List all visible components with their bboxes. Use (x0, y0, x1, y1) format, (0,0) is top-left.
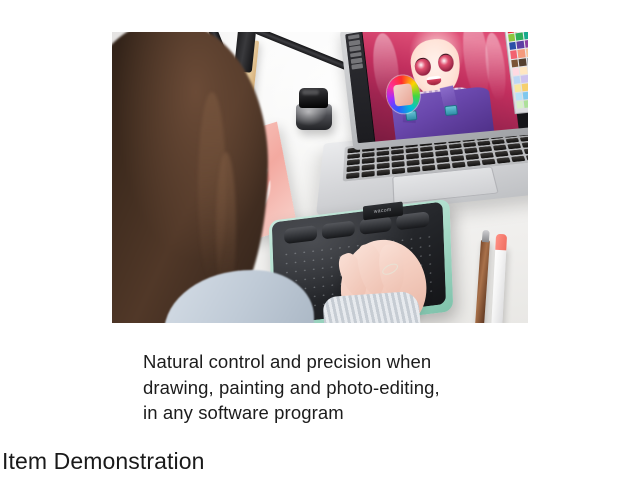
color-swatch[interactable] (511, 59, 519, 67)
express-key[interactable] (322, 221, 355, 240)
tool-icon[interactable] (350, 46, 361, 52)
color-swatch[interactable] (518, 49, 526, 57)
photo-caption: Natural control and precision when drawi… (143, 349, 543, 426)
color-swatch[interactable] (508, 34, 516, 42)
color-swatch[interactable] (521, 75, 528, 83)
overall-buckle-right (444, 105, 457, 116)
color-swatch[interactable] (509, 42, 517, 50)
color-swatch[interactable] (515, 92, 523, 100)
color-swatch[interactable] (526, 48, 528, 56)
color-swatch[interactable] (519, 58, 527, 66)
color-swatch[interactable] (524, 100, 528, 108)
color-swatch[interactable] (525, 40, 528, 48)
sweater-sleeve (322, 291, 421, 323)
express-key[interactable] (284, 225, 317, 244)
tool-icon[interactable] (351, 58, 362, 64)
photo-scene: wacom (112, 32, 528, 323)
color-swatch[interactable] (513, 76, 521, 84)
laptop-screen (345, 32, 528, 143)
color-swatch[interactable] (516, 101, 524, 109)
tool-icon[interactable] (350, 52, 361, 58)
color-swatch[interactable] (514, 84, 522, 92)
color-swatch[interactable] (517, 41, 525, 49)
section-title: Item Demonstration (2, 447, 205, 475)
product-photo: wacom (112, 32, 528, 323)
color-swatch[interactable] (523, 32, 528, 40)
color-swatch[interactable] (510, 50, 518, 58)
tool-icon[interactable] (349, 40, 360, 46)
tool-icon[interactable] (348, 34, 359, 40)
color-swatch[interactable] (520, 66, 528, 74)
color-swatch[interactable] (527, 57, 528, 65)
tool-icon[interactable] (352, 64, 363, 70)
color-swatch[interactable] (522, 83, 528, 91)
color-swatch[interactable] (512, 67, 520, 75)
color-swatch[interactable] (516, 33, 524, 41)
laptop-lid (340, 32, 528, 150)
caption-line-1: Natural control and precision when (143, 349, 543, 375)
caption-line-2: drawing, painting and photo-editing, (143, 375, 543, 401)
color-swatch[interactable] (523, 92, 528, 100)
illustration-canvas (361, 32, 518, 142)
caption-line-3: in any software program (143, 400, 543, 426)
